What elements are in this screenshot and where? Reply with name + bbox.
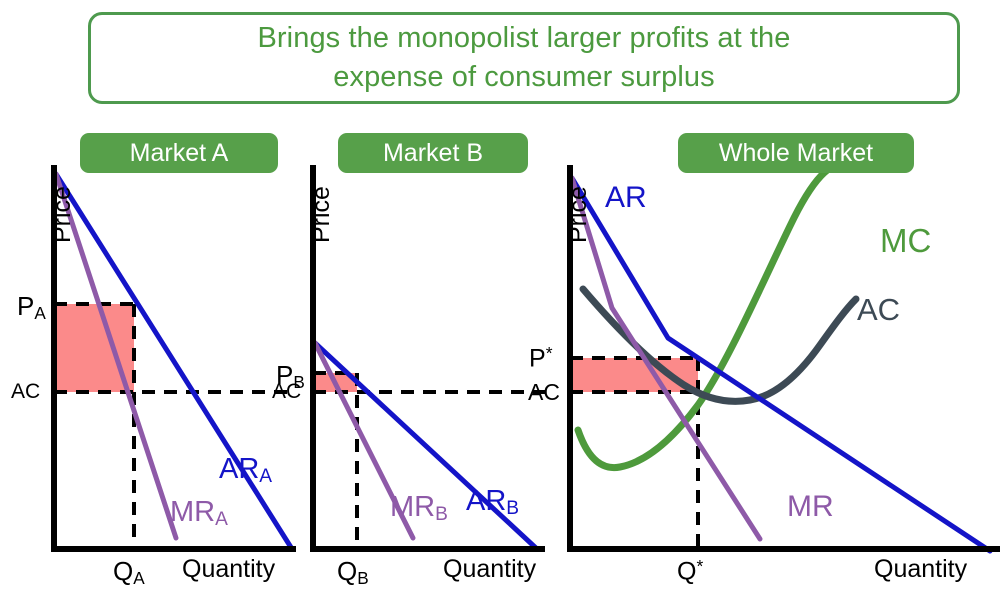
ar-label-a-main: AR bbox=[219, 453, 259, 485]
title-text: Brings the monopolist larger profits at … bbox=[247, 19, 800, 96]
quantity-label-a-main: Q bbox=[113, 556, 133, 586]
price-label-a-sub: A bbox=[34, 303, 45, 323]
quantity-label-b-main: Q bbox=[337, 556, 357, 586]
panel-title-market-b: Market B bbox=[338, 133, 528, 173]
quantity-label-b-sub: B bbox=[357, 568, 368, 588]
quantity-label-b: QB bbox=[337, 558, 369, 587]
quantity-label-c: Q* bbox=[677, 558, 703, 584]
price-label-a-main: P bbox=[17, 291, 34, 321]
ar-label-b-sub: B bbox=[506, 498, 519, 519]
y-axis-title-c: Price bbox=[564, 186, 593, 243]
quantity-label-c-main: Q bbox=[677, 557, 696, 585]
panel-title-market-a: Market A bbox=[80, 133, 278, 173]
mr-label-a-sub: A bbox=[215, 509, 228, 530]
price-label-c: P* bbox=[529, 345, 553, 371]
x-axis-title-b: Quantity bbox=[443, 555, 536, 584]
cost-label-b: AC bbox=[272, 381, 301, 402]
mc-label-c: MC bbox=[880, 224, 931, 257]
panel-title-whole-market-label: Whole Market bbox=[719, 139, 873, 168]
price-label-c-main: P bbox=[529, 344, 546, 372]
quantity-label-c-sup: * bbox=[696, 556, 703, 576]
mr-label-a: MRA bbox=[170, 498, 228, 529]
mr-label-c: MR bbox=[787, 492, 834, 522]
title-line-2: expense of consumer surplus bbox=[333, 61, 715, 93]
panel-c-plot bbox=[567, 162, 1000, 551]
price-label-c-sup: * bbox=[546, 343, 553, 363]
profit-rectangle-c bbox=[570, 358, 698, 392]
mr-label-a-main: MR bbox=[170, 496, 215, 528]
mr-label-b-main: MR bbox=[390, 491, 435, 523]
ac-label-c: AC bbox=[857, 294, 900, 325]
ar-label-a-sub: A bbox=[259, 466, 272, 487]
quantity-label-a-sub: A bbox=[133, 568, 144, 588]
cost-label-c: AC bbox=[528, 381, 560, 404]
cost-label-a: AC bbox=[11, 381, 40, 402]
x-axis-title-a: Quantity bbox=[182, 555, 275, 584]
ar-label-c: AR bbox=[605, 183, 647, 213]
ar-label-b: ARB bbox=[466, 487, 519, 518]
title-banner: Brings the monopolist larger profits at … bbox=[88, 12, 960, 104]
panel-title-market-b-label: Market B bbox=[383, 139, 483, 168]
panel-title-whole-market: Whole Market bbox=[678, 133, 914, 173]
mr-label-b: MRB bbox=[390, 493, 448, 524]
price-label-a: PA bbox=[17, 293, 46, 322]
quantity-label-a: QA bbox=[113, 558, 145, 587]
panel-a-plot bbox=[51, 165, 296, 551]
title-line-1: Brings the monopolist larger profits at … bbox=[257, 22, 790, 54]
y-axis-title-a: Price bbox=[48, 186, 77, 243]
mr-label-b-sub: B bbox=[435, 504, 448, 525]
y-axis-title-b: Price bbox=[307, 186, 336, 243]
x-axis-title-c: Quantity bbox=[874, 555, 967, 584]
panel-title-market-a-label: Market A bbox=[130, 139, 229, 168]
diagram-canvas: Brings the monopolist larger profits at … bbox=[0, 0, 1006, 612]
ar-label-b-main: AR bbox=[466, 485, 506, 517]
ar-label-a: ARA bbox=[219, 455, 272, 486]
